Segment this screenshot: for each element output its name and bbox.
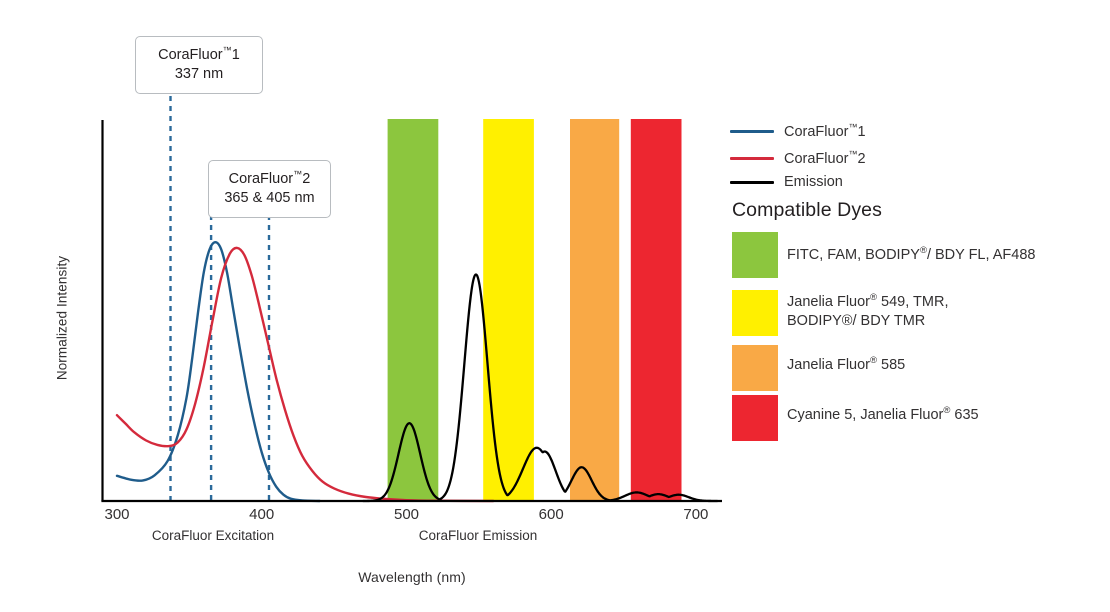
compatible-dyes-title: Compatible Dyes [732,199,882,222]
emission-bands-group [388,119,682,501]
dye-label: Janelia Fluor® 585 [787,355,905,375]
dye-label: Cyanine 5, Janelia Fluor® 635 [787,405,979,425]
orange-band [570,119,619,501]
callout-corafluor2-line2: 365 & 405 nm [221,189,318,209]
legend-label: CoraFluor™2 [784,149,866,167]
x-tick-500: 500 [394,506,419,523]
legend-label: Emission [784,174,843,190]
callout-corafluor2-line1: CoraFluor™2 [221,168,318,189]
x-tick-600: 600 [539,506,564,523]
callout-corafluor1: CoraFluor™1 337 nm [135,36,263,94]
callout-corafluor1-line2: 337 nm [148,65,250,85]
dye-label: Janelia Fluor® 549, TMR, BODIPY®/ BDY TM… [787,292,948,332]
emission-range-label: CoraFluor Emission [419,528,538,543]
green-band [388,119,439,501]
dye-color-swatch [732,395,778,441]
callout-corafluor2: CoraFluor™2 365 & 405 nm [208,160,331,218]
legend-swatch-icon [730,181,774,184]
curve-corafluor1 [117,242,320,501]
legend-swatch-icon [730,157,774,160]
x-tick-400: 400 [249,506,274,523]
callout-corafluor1-line1: CoraFluor™1 [148,44,250,65]
chart-page: Normalized Intensity Wavelength (nm) Cor… [0,0,1110,612]
legend-swatch-icon [730,130,774,133]
x-tick-300: 300 [104,506,129,523]
dye-label: FITC, FAM, BODIPY®/ BDY FL, AF488 [787,245,1035,265]
dye-color-swatch [732,290,778,336]
excitation-range-label: CoraFluor Excitation [152,528,274,543]
marker-lines-group [171,86,270,501]
legend-item-1[interactable]: CoraFluor™1 [730,122,774,140]
dye-color-swatch [732,232,778,278]
legend-item-2[interactable]: CoraFluor™2 [730,149,774,167]
right-panel: CoraFluor™1CoraFluor™2Emission Compatibl… [730,0,1110,612]
x-tick-700: 700 [683,506,708,523]
x-axis-label: Wavelength (nm) [358,569,466,585]
red-band [631,119,682,501]
yellow-band [483,119,534,501]
dye-color-swatch [732,345,778,391]
legend-label: CoraFluor™1 [784,122,866,140]
plot-area: Normalized Intensity Wavelength (nm) Cor… [0,0,730,612]
legend-item-3[interactable]: Emission [730,173,774,191]
y-axis-label: Normalized Intensity [55,256,70,380]
